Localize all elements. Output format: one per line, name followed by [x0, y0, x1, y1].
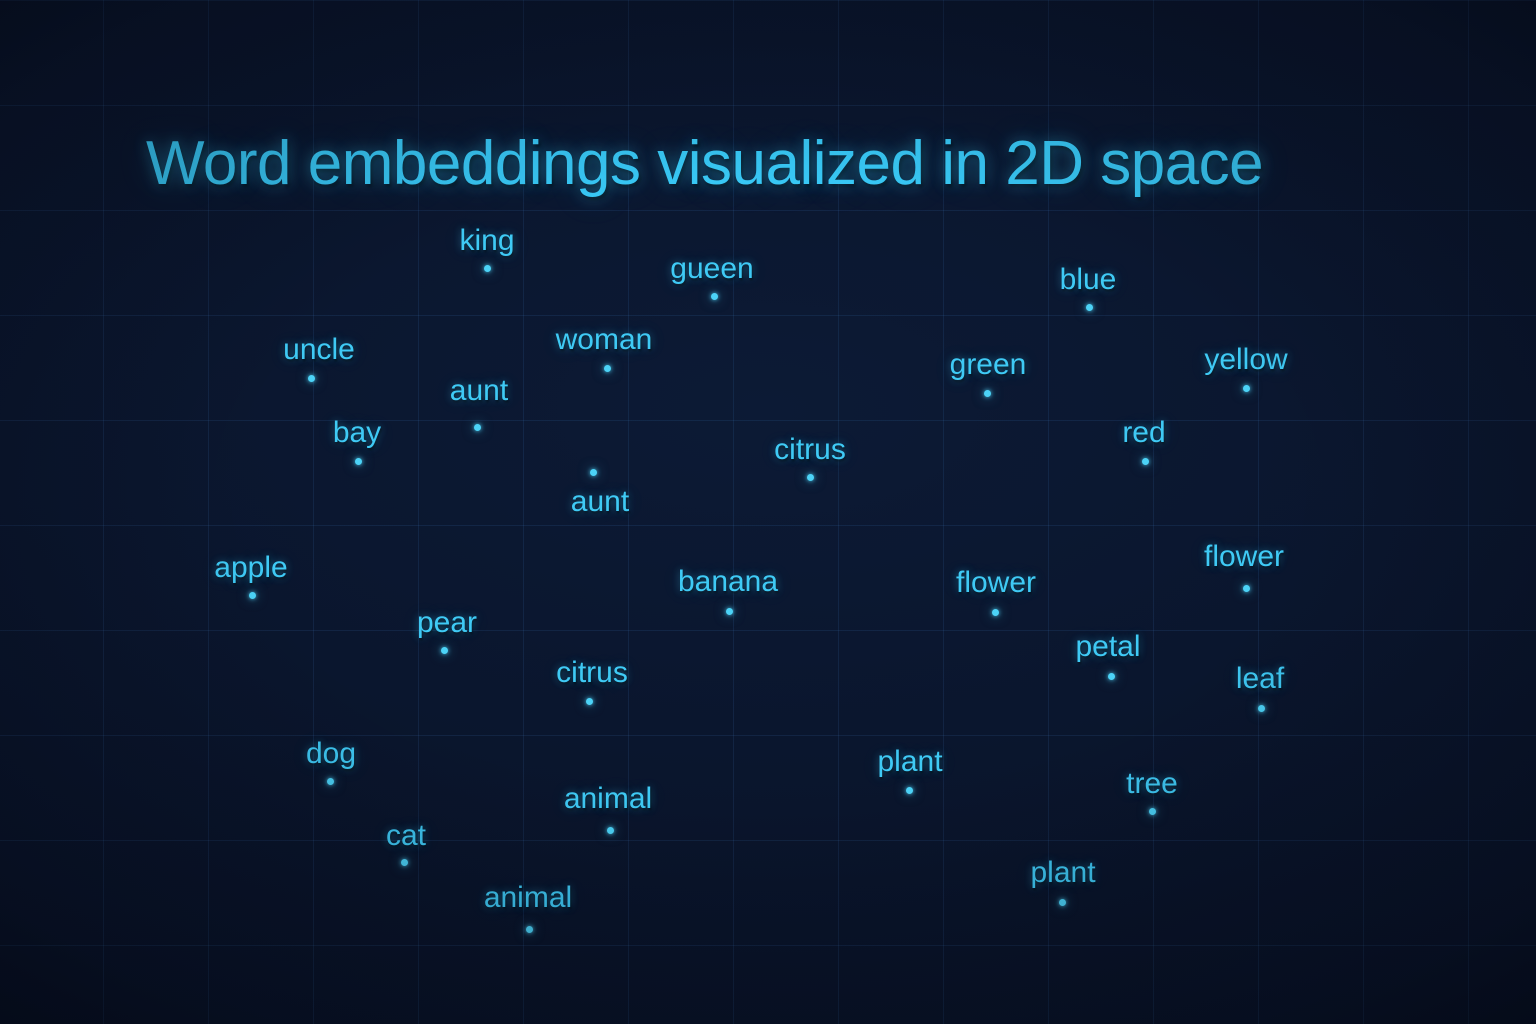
embedding-point[interactable] [607, 827, 614, 834]
embedding-point[interactable] [526, 926, 533, 933]
embedding-label: animal [484, 883, 572, 913]
embedding-point[interactable] [1086, 304, 1093, 311]
embedding-label: leaf [1236, 664, 1284, 694]
embedding-point[interactable] [327, 778, 334, 785]
embedding-point[interactable] [401, 859, 408, 866]
embedding-label: king [459, 226, 514, 256]
page-title: Word embeddings visualized in 2D space [146, 128, 1263, 199]
embedding-point[interactable] [1059, 899, 1066, 906]
embedding-label: flower [956, 568, 1036, 598]
embedding-point[interactable] [604, 365, 611, 372]
embedding-label: dog [306, 739, 356, 769]
embedding-point[interactable] [249, 592, 256, 599]
embedding-label: apple [214, 553, 287, 583]
embedding-point[interactable] [355, 458, 362, 465]
embedding-label: citrus [556, 658, 628, 688]
embedding-label: aunt [571, 487, 629, 517]
embedding-label: green [950, 350, 1027, 380]
embedding-point[interactable] [1108, 673, 1115, 680]
embedding-label: petal [1075, 632, 1140, 662]
embedding-point[interactable] [484, 265, 491, 272]
embedding-label: plant [1030, 858, 1095, 888]
embedding-label: animal [564, 784, 652, 814]
embedding-label: blue [1060, 265, 1117, 295]
embedding-point[interactable] [992, 609, 999, 616]
embedding-label: yellow [1204, 345, 1287, 375]
embedding-point[interactable] [711, 293, 718, 300]
embedding-label: pear [417, 608, 477, 638]
embedding-label: plant [877, 747, 942, 777]
embedding-point[interactable] [441, 647, 448, 654]
embedding-label: red [1122, 418, 1165, 448]
embedding-point[interactable] [474, 424, 481, 431]
embedding-label: tree [1126, 769, 1178, 799]
embedding-point[interactable] [1142, 458, 1149, 465]
embedding-label: cat [386, 821, 426, 851]
embedding-label: uncle [283, 335, 355, 365]
embedding-label: bay [333, 418, 381, 448]
embedding-scatter-plot: Word embeddings visualized in 2D space k… [0, 0, 1536, 1024]
embedding-point[interactable] [726, 608, 733, 615]
embedding-label: woman [556, 325, 653, 355]
embedding-point[interactable] [1149, 808, 1156, 815]
embedding-label: citrus [774, 435, 846, 465]
embedding-point[interactable] [1258, 705, 1265, 712]
embedding-point[interactable] [590, 469, 597, 476]
embedding-point[interactable] [1243, 585, 1250, 592]
embedding-label: gueen [670, 254, 753, 284]
embedding-label: flower [1204, 542, 1284, 572]
embedding-label: banana [678, 567, 778, 597]
embedding-point[interactable] [586, 698, 593, 705]
embedding-point[interactable] [906, 787, 913, 794]
embedding-point[interactable] [984, 390, 991, 397]
embedding-point[interactable] [1243, 385, 1250, 392]
embedding-point[interactable] [807, 474, 814, 481]
embedding-point[interactable] [308, 375, 315, 382]
embedding-label: aunt [450, 376, 508, 406]
